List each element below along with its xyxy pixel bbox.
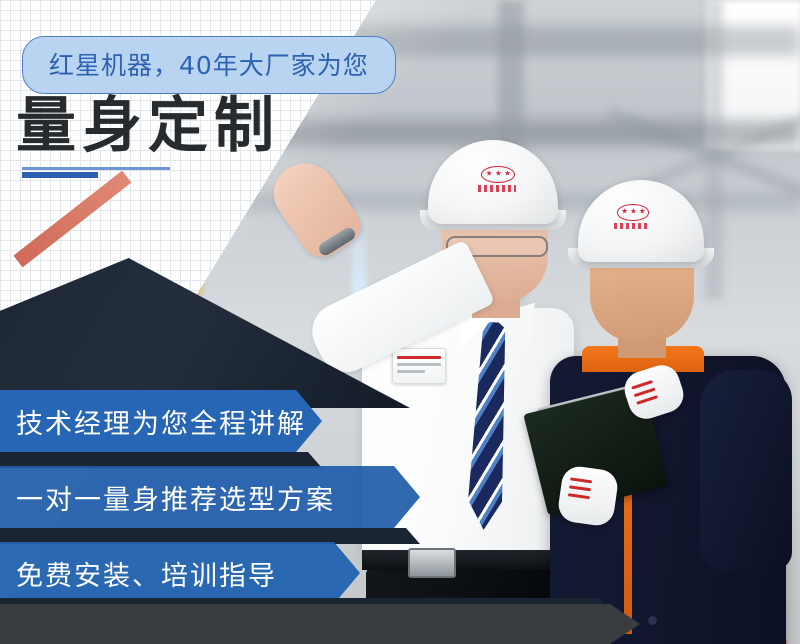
engineer-id-badge — [392, 348, 446, 384]
title-underline-thin — [22, 167, 170, 170]
hongxing-emblem-icon — [612, 204, 652, 229]
work-glove — [556, 464, 619, 527]
feature-bar-label: 技术经理为您全程讲解 — [16, 402, 306, 441]
worker-figure — [520, 180, 800, 644]
page-title: 量身定制 — [16, 96, 280, 156]
tagline-badge: 红星机器，40年大厂家为您 — [22, 36, 396, 94]
feature-bar-label: 一对一量身推荐选型方案 — [16, 478, 335, 517]
hongxing-emblem-icon — [476, 166, 518, 192]
feature-bar-1: 技术经理为您全程讲解 — [0, 390, 322, 452]
footer-band — [0, 604, 640, 644]
worker-jacket-button — [648, 616, 657, 625]
worker-arm — [700, 370, 792, 570]
feature-bar-2: 一对一量身推荐选型方案 — [0, 466, 420, 528]
feature-bar-label: 免费安装、培训指导 — [16, 554, 277, 593]
promotional-banner: 红星机器，40年大厂家为您 量身定制 技术经理为您全程讲解 一对一量身推荐选型方… — [0, 0, 800, 644]
feature-bar-3: 免费安装、培训指导 — [0, 542, 360, 604]
engineer-belt-buckle — [408, 548, 456, 578]
title-underline-thick — [22, 172, 98, 178]
